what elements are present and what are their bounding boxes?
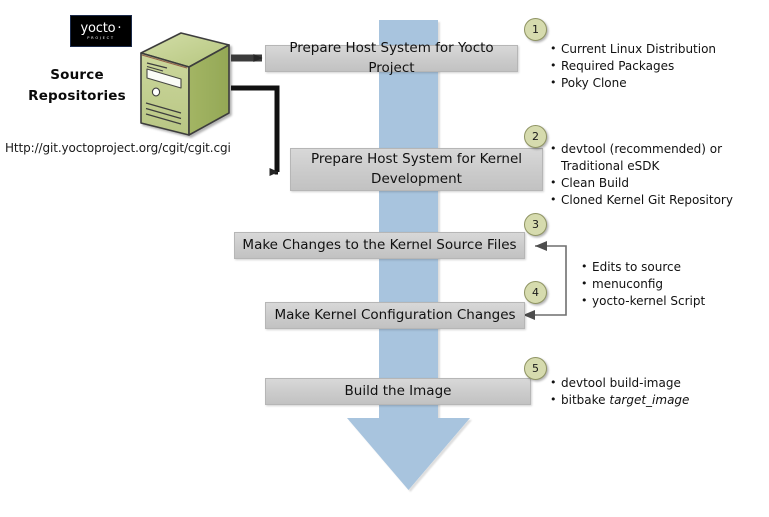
process-box-step-2[interactable]: Prepare Host System for Kernel Developme… bbox=[290, 148, 543, 191]
step-number-2: 2 bbox=[524, 125, 547, 148]
note-item: Cloned Kernel Git Repository bbox=[549, 192, 754, 209]
yocto-project-logo: yocto · PROJECT bbox=[70, 15, 132, 47]
note-item: Current Linux Distribution bbox=[549, 41, 763, 58]
step-number-3: 3 bbox=[524, 213, 547, 236]
connector-bracket-steps-3-4 bbox=[523, 241, 566, 320]
logo-dot: · bbox=[115, 22, 121, 35]
note-item: yocto-kernel Script bbox=[580, 293, 760, 310]
notes-step-2: devtool (recommended) or Traditional eSD… bbox=[549, 141, 754, 209]
note-item: devtool build-image bbox=[549, 375, 759, 392]
notes-step-5: devtool build-image bitbake target_image bbox=[549, 375, 759, 409]
source-repositories-label: Source Repositories bbox=[14, 65, 140, 107]
logo-sub-text: PROJECT bbox=[87, 37, 114, 41]
process-box-step-3[interactable]: Make Changes to the Kernel Source Files bbox=[234, 232, 525, 259]
note-item: Required Packages bbox=[549, 58, 763, 75]
source-repositories-label-line1: Source bbox=[14, 65, 140, 86]
notes-steps-3-4: Edits to source menuconfig yocto-kernel … bbox=[580, 259, 760, 310]
note-command-name: bitbake bbox=[561, 393, 609, 407]
note-item: Clean Build bbox=[549, 175, 754, 192]
connector-server-to-step2 bbox=[231, 88, 278, 172]
server-tower-icon bbox=[133, 31, 237, 139]
note-item: Edits to source bbox=[580, 259, 760, 276]
note-item: menuconfig bbox=[580, 276, 760, 293]
step-number-1: 1 bbox=[524, 18, 547, 41]
step-number-5: 5 bbox=[524, 357, 547, 380]
process-box-step-4[interactable]: Make Kernel Configuration Changes bbox=[265, 302, 525, 329]
note-item: devtool (recommended) or Traditional eSD… bbox=[549, 141, 754, 175]
notes-step-1: Current Linux Distribution Required Pack… bbox=[549, 41, 763, 92]
source-repositories-label-line2: Repositories bbox=[14, 86, 140, 107]
logo-main-text: yocto bbox=[81, 22, 116, 35]
process-box-step-5[interactable]: Build the Image bbox=[265, 378, 531, 405]
note-item: bitbake target_image bbox=[549, 392, 759, 409]
note-item: Poky Clone bbox=[549, 75, 763, 92]
note-command-arg: target_image bbox=[609, 393, 689, 407]
step-number-4: 4 bbox=[524, 281, 547, 304]
yocto-kernel-workflow-diagram: yocto · PROJECT Source Repositories Http… bbox=[0, 0, 769, 517]
source-repositories-url: Http://git.yoctoproject.org/cgit/cgit.cg… bbox=[5, 141, 231, 155]
process-box-step-1[interactable]: Prepare Host System for Yocto Project bbox=[265, 45, 518, 72]
main-flow-arrow bbox=[340, 20, 476, 498]
